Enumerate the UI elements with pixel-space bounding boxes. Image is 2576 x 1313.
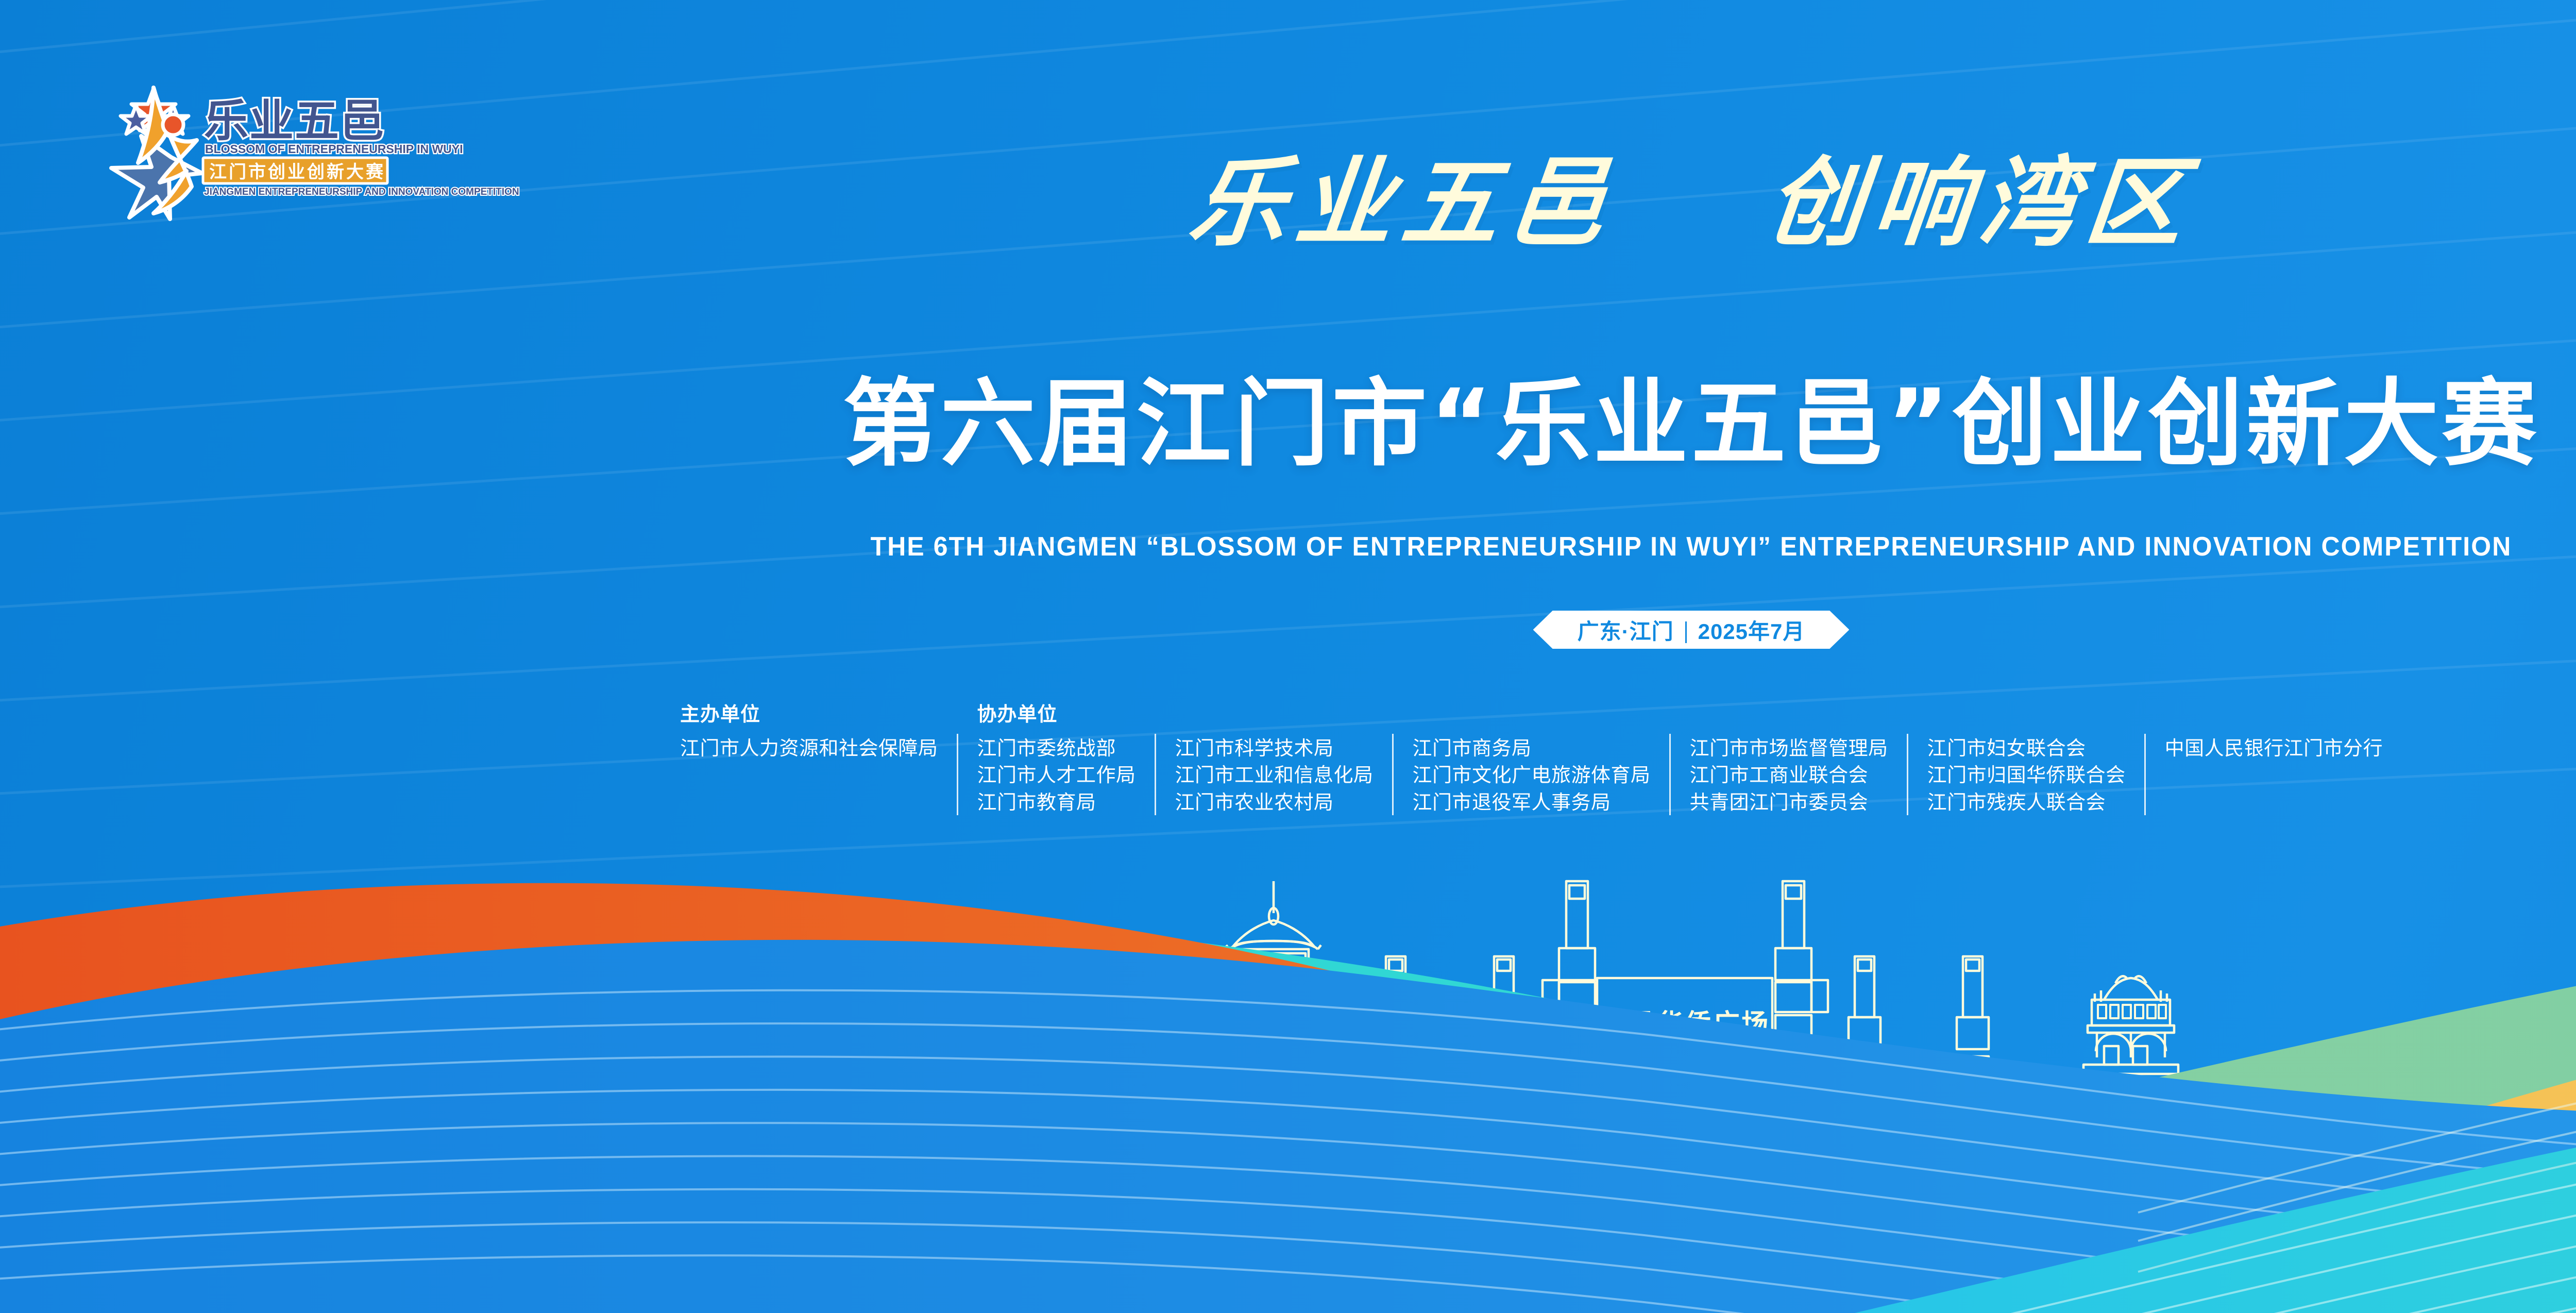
organizer-list: 主办单位 江门市人力资源和社会保障局 协办单位 江门市委统战部 江门市人才工作局… [680, 705, 2401, 816]
organizer-column: 协办单位 江门市委统战部 江门市人才工作局 江门市教育局 [957, 705, 1155, 816]
organizer-column: - 江门市妇女联合会 江门市归国华侨联合会 江门市残疾人联合会 [1907, 705, 2144, 816]
organizer-item: 江门市农业农村局 [1175, 789, 1374, 816]
organizer-item: 江门市退役军人事务局 [1413, 789, 1651, 816]
organizer-item: 江门市商务局 [1413, 735, 1651, 762]
page-title: 第六届江门市“乐业五邑”创业创新大赛 [0, 376, 2576, 473]
page-subtitle-english: THE 6TH JIANGMEN “BLOSSOM OF ENTREPRENEU… [67, 533, 2576, 560]
organizer-item: 江门市文化广电旅游体育局 [1413, 762, 1651, 789]
organizer-column: - 江门市科学技术局 江门市工业和信息化局 江门市农业农村局 [1155, 705, 1392, 816]
decorative-wave-ribbons [0, 849, 2576, 1313]
organizer-item: 江门市工业和信息化局 [1175, 762, 1374, 789]
calligraphy-headline: 乐业五邑 创响湾区 [0, 155, 2576, 251]
organizer-item: 共青团江门市委员会 [1690, 789, 1888, 816]
organizer-column: - 江门市商务局 江门市文化广电旅游体育局 江门市退役军人事务局 [1392, 705, 1669, 816]
organizer-item: 中国人民银行江门市分行 [2165, 735, 2383, 762]
organizer-item: 江门市市场监督管理局 [1690, 735, 1888, 762]
calligraphy-right: 创响湾区 [1761, 146, 2198, 260]
organizer-heading: 主办单位 [680, 705, 938, 725]
organizer-column: - 江门市市场监督管理局 江门市工商业联合会 共青团江门市委员会 [1669, 705, 1907, 816]
organizer-item: 江门市教育局 [977, 789, 1136, 816]
organizer-item: 江门市残疾人联合会 [1927, 789, 2126, 816]
organizer-item: 江门市人力资源和社会保障局 [680, 735, 938, 762]
badge-location: 广东·江门 [1578, 614, 1674, 646]
organizer-item: 江门市妇女联合会 [1927, 735, 2126, 762]
organizer-column: 主办单位 江门市人力资源和社会保障局 [680, 705, 957, 762]
logo-en-main: BLOSSOM OF ENTREPRENEURSHIP IN WUYI [205, 142, 463, 156]
logo-cn-main: 乐业五邑 [204, 95, 385, 147]
badge-separator [1685, 621, 1687, 643]
organizer-column: - 中国人民银行江门市分行 [2144, 705, 2402, 762]
organizer-item: 江门市科学技术局 [1175, 735, 1374, 762]
event-banner: 乐业五邑 BLOSSOM OF ENTREPRENEURSHIP IN WUYI… [0, 0, 2576, 1313]
organizer-item: 江门市人才工作局 [977, 762, 1136, 789]
organizer-item: 江门市归国华侨联合会 [1927, 762, 2126, 789]
organizer-heading: 协办单位 [977, 705, 1136, 725]
organizer-item: 江门市工商业联合会 [1690, 762, 1888, 789]
organizer-item: 江门市委统战部 [977, 735, 1136, 762]
date-location-badge: 广东·江门 2025年7月 [1533, 611, 1850, 649]
badge-date: 2025年7月 [1698, 614, 1805, 646]
calligraphy-left: 乐业五邑 [1184, 146, 1620, 260]
